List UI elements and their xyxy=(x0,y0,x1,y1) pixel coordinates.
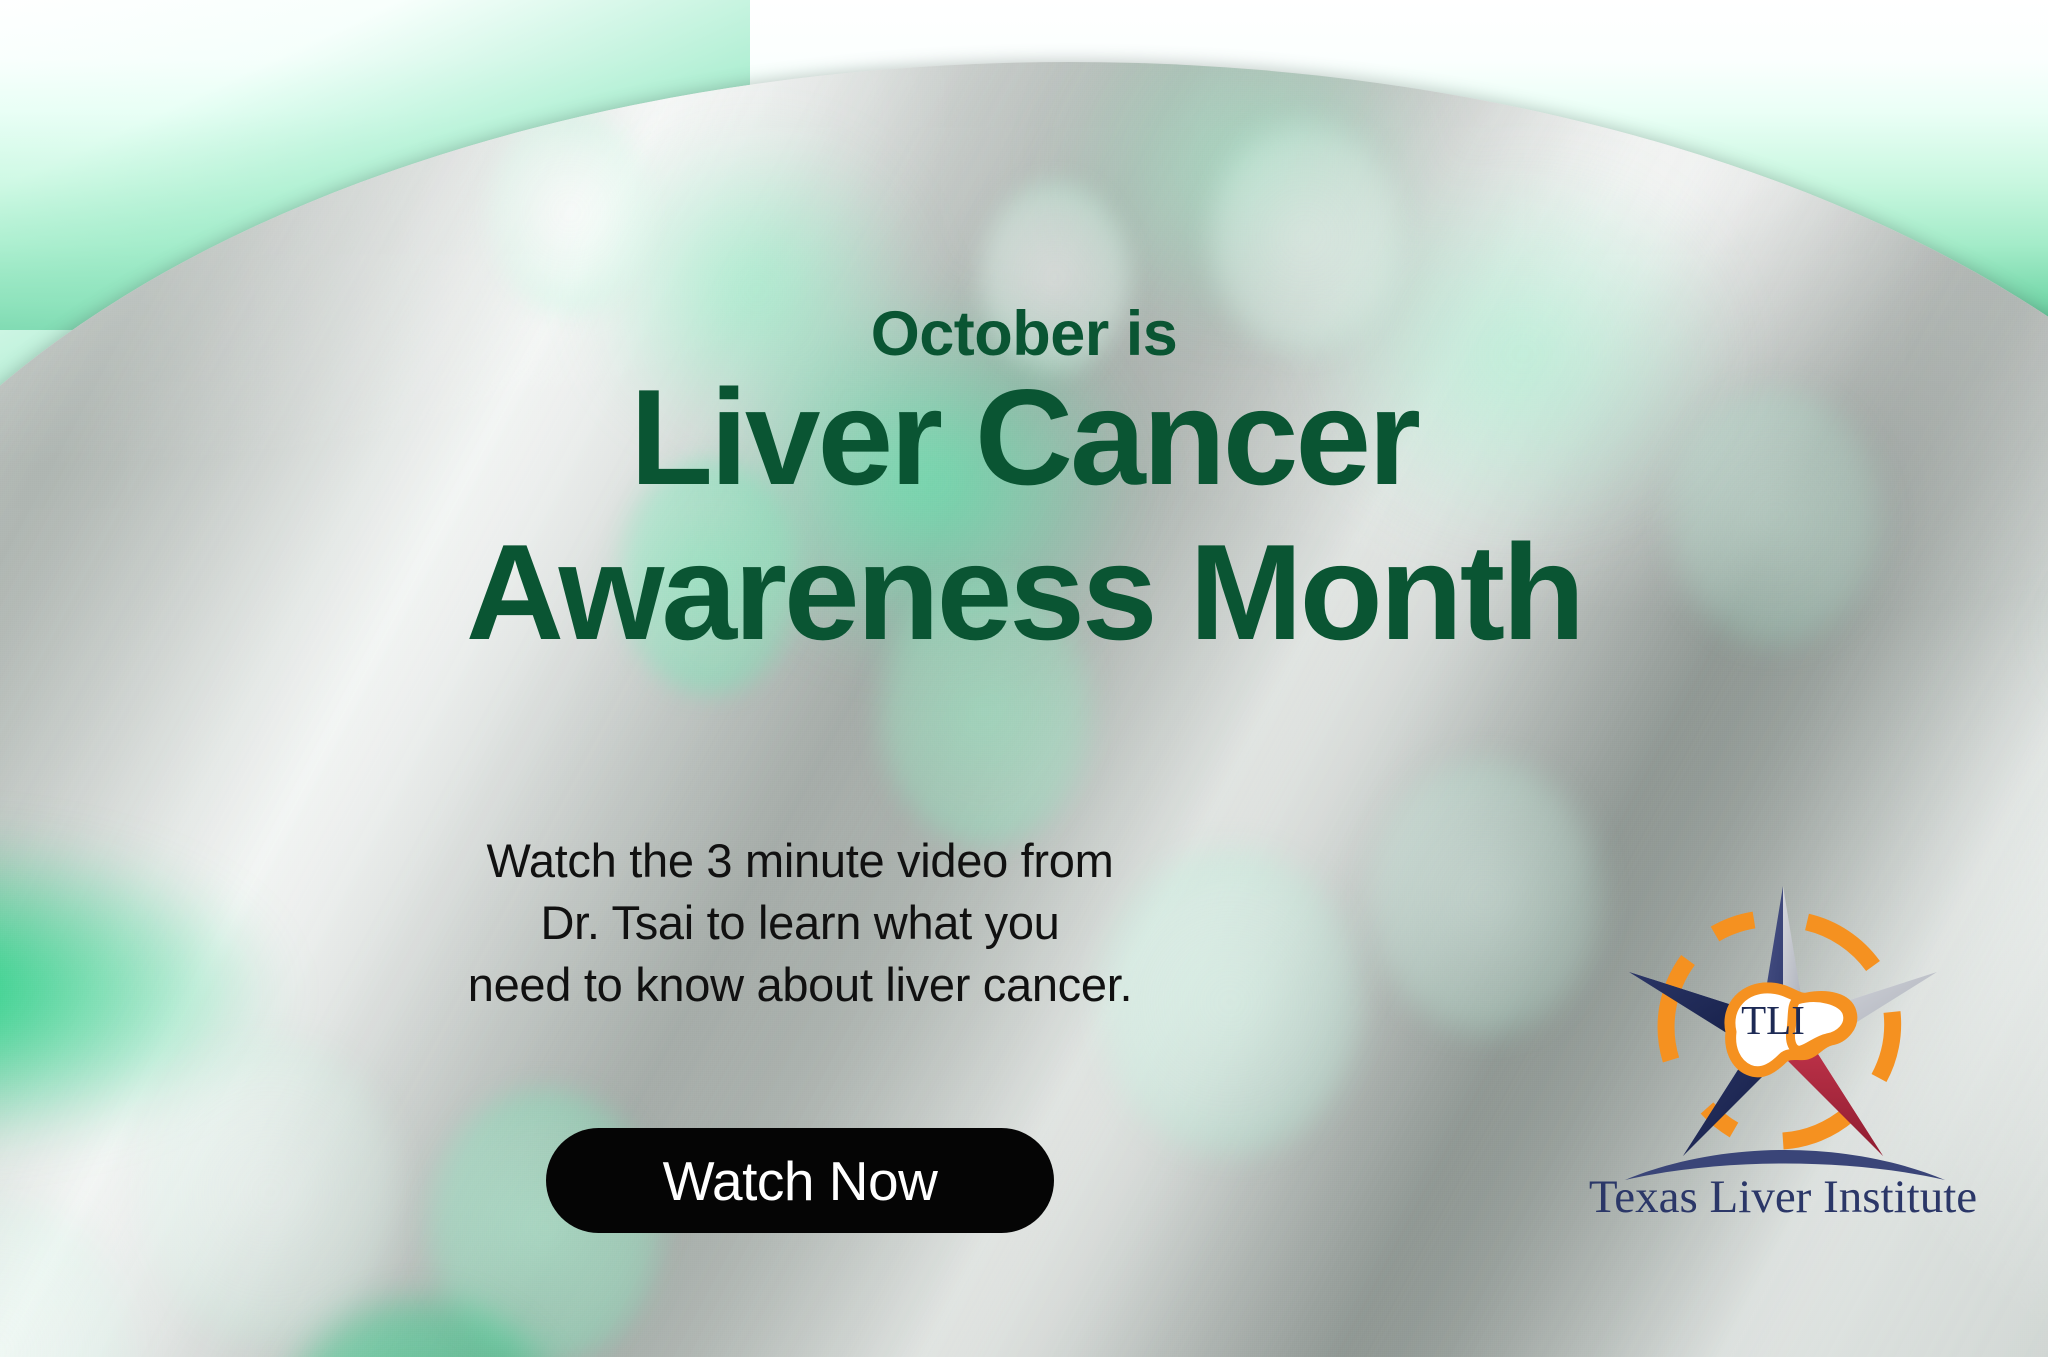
logo-wordmark: Texas Liver Institute xyxy=(1583,1170,1983,1224)
eyebrow-text: October is xyxy=(0,298,2048,370)
subcopy-line-3: need to know about liver cancer. xyxy=(330,954,1270,1016)
tli-star-logo-icon: TLI xyxy=(1611,882,1955,1182)
watch-now-button[interactable]: Watch Now xyxy=(546,1128,1054,1233)
texas-liver-institute-logo[interactable]: TLI Texas Liver Institute xyxy=(1583,882,1983,1262)
subcopy-line-2: Dr. Tsai to learn what you xyxy=(330,892,1270,954)
liver-cancer-awareness-banner: October is Liver Cancer Awareness Month … xyxy=(0,0,2048,1357)
headline-line-2: Awareness Month xyxy=(0,527,2048,658)
page-title: Liver Cancer Awareness Month xyxy=(0,372,2048,657)
cta-container: Watch Now xyxy=(330,1128,1270,1233)
subcopy-paragraph: Watch the 3 minute video from Dr. Tsai t… xyxy=(330,830,1270,1016)
subcopy-line-1: Watch the 3 minute video from xyxy=(330,830,1270,892)
liver-badge-icon: TLI xyxy=(1730,988,1852,1072)
banner-content: October is Liver Cancer Awareness Month … xyxy=(0,0,2048,1357)
tli-monogram-text: TLI xyxy=(1741,997,1805,1043)
headline-line-1: Liver Cancer xyxy=(630,361,1418,513)
